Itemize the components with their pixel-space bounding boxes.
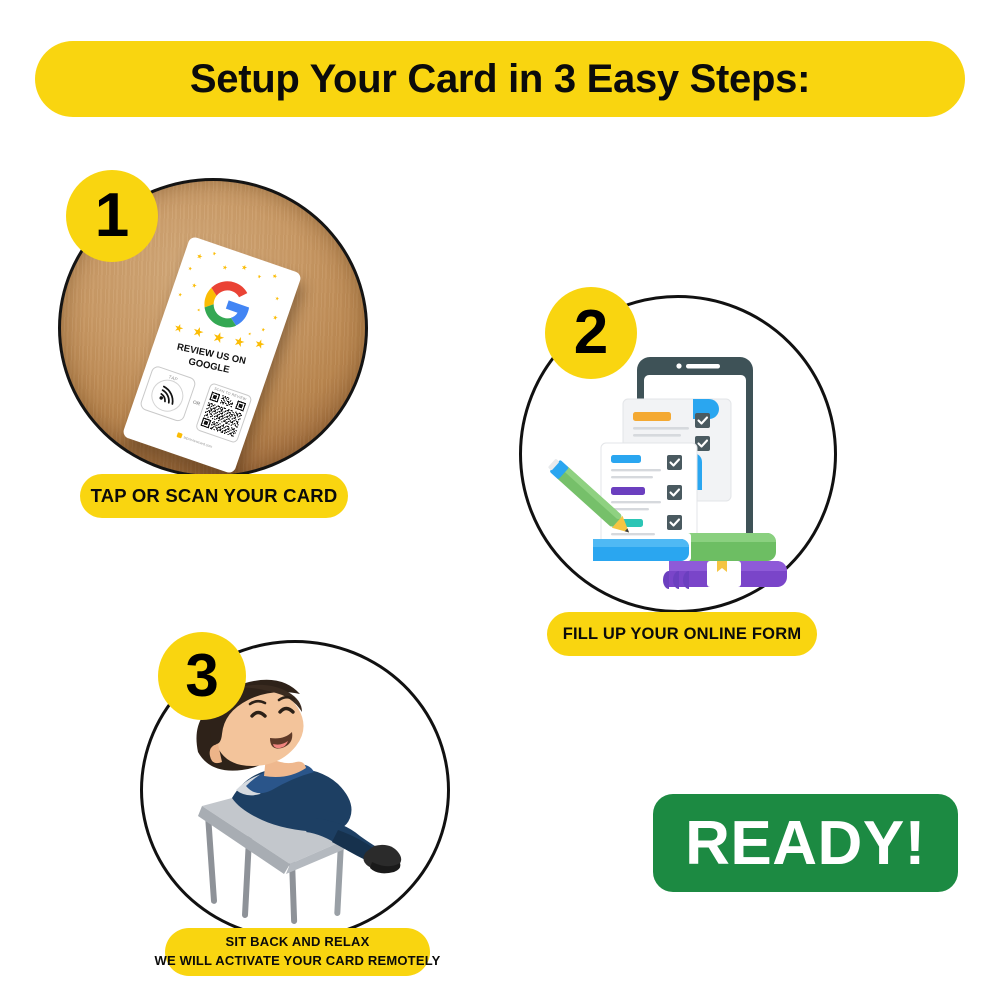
ready-button-label: READY! bbox=[685, 808, 926, 879]
or-label: OR bbox=[192, 399, 201, 407]
step-1: ★ ★ ★ ★ ★ ★ ★ ★ ★ ★ ★ ★ ★ ★ bbox=[58, 178, 368, 478]
brand-dot-icon bbox=[176, 432, 182, 438]
header-banner: Setup Your Card in 3 Easy Steps: bbox=[35, 41, 965, 117]
step-3: 3 SIT BACK AND RELAX WE WILL ACTIVATE YO… bbox=[140, 640, 450, 940]
step-1-caption: TAP OR SCAN YOUR CARD bbox=[80, 474, 348, 518]
phone-speaker-icon bbox=[686, 364, 720, 369]
step-3-caption: SIT BACK AND RELAX WE WILL ACTIVATE YOUR… bbox=[165, 928, 430, 976]
step-3-number-badge: 3 bbox=[158, 632, 246, 720]
step-2-caption-text: FILL UP YOUR ONLINE FORM bbox=[563, 625, 802, 644]
ready-button[interactable]: READY! bbox=[653, 794, 958, 892]
step-2-number-badge: 2 bbox=[545, 287, 637, 379]
phone-camera-icon bbox=[676, 363, 681, 368]
step-3-caption-line-1: SIT BACK AND RELAX bbox=[226, 933, 370, 952]
infographic-page: Setup Your Card in 3 Easy Steps: ★ ★ ★ ★… bbox=[0, 0, 1000, 1000]
step-3-caption-line-2: WE WILL ACTIVATE YOUR CARD REMOTELY bbox=[154, 952, 440, 971]
page-title: Setup Your Card in 3 Easy Steps: bbox=[190, 57, 810, 102]
step-1-number: 1 bbox=[95, 185, 129, 247]
step-3-number: 3 bbox=[185, 646, 218, 706]
step-2-caption: FILL UP YOUR ONLINE FORM bbox=[547, 612, 817, 656]
step-2-number: 2 bbox=[574, 302, 608, 364]
step-1-caption-text: TAP OR SCAN YOUR CARD bbox=[91, 485, 338, 507]
step-1-number-badge: 1 bbox=[66, 170, 158, 262]
nfc-review-card: ★ ★ ★ ★ ★ ★ ★ ★ ★ ★ ★ ★ ★ ★ bbox=[122, 236, 303, 475]
step-2: 2 FILL UP YOUR ONLINE FORM bbox=[519, 295, 837, 613]
front-form-sheet bbox=[601, 443, 697, 547]
